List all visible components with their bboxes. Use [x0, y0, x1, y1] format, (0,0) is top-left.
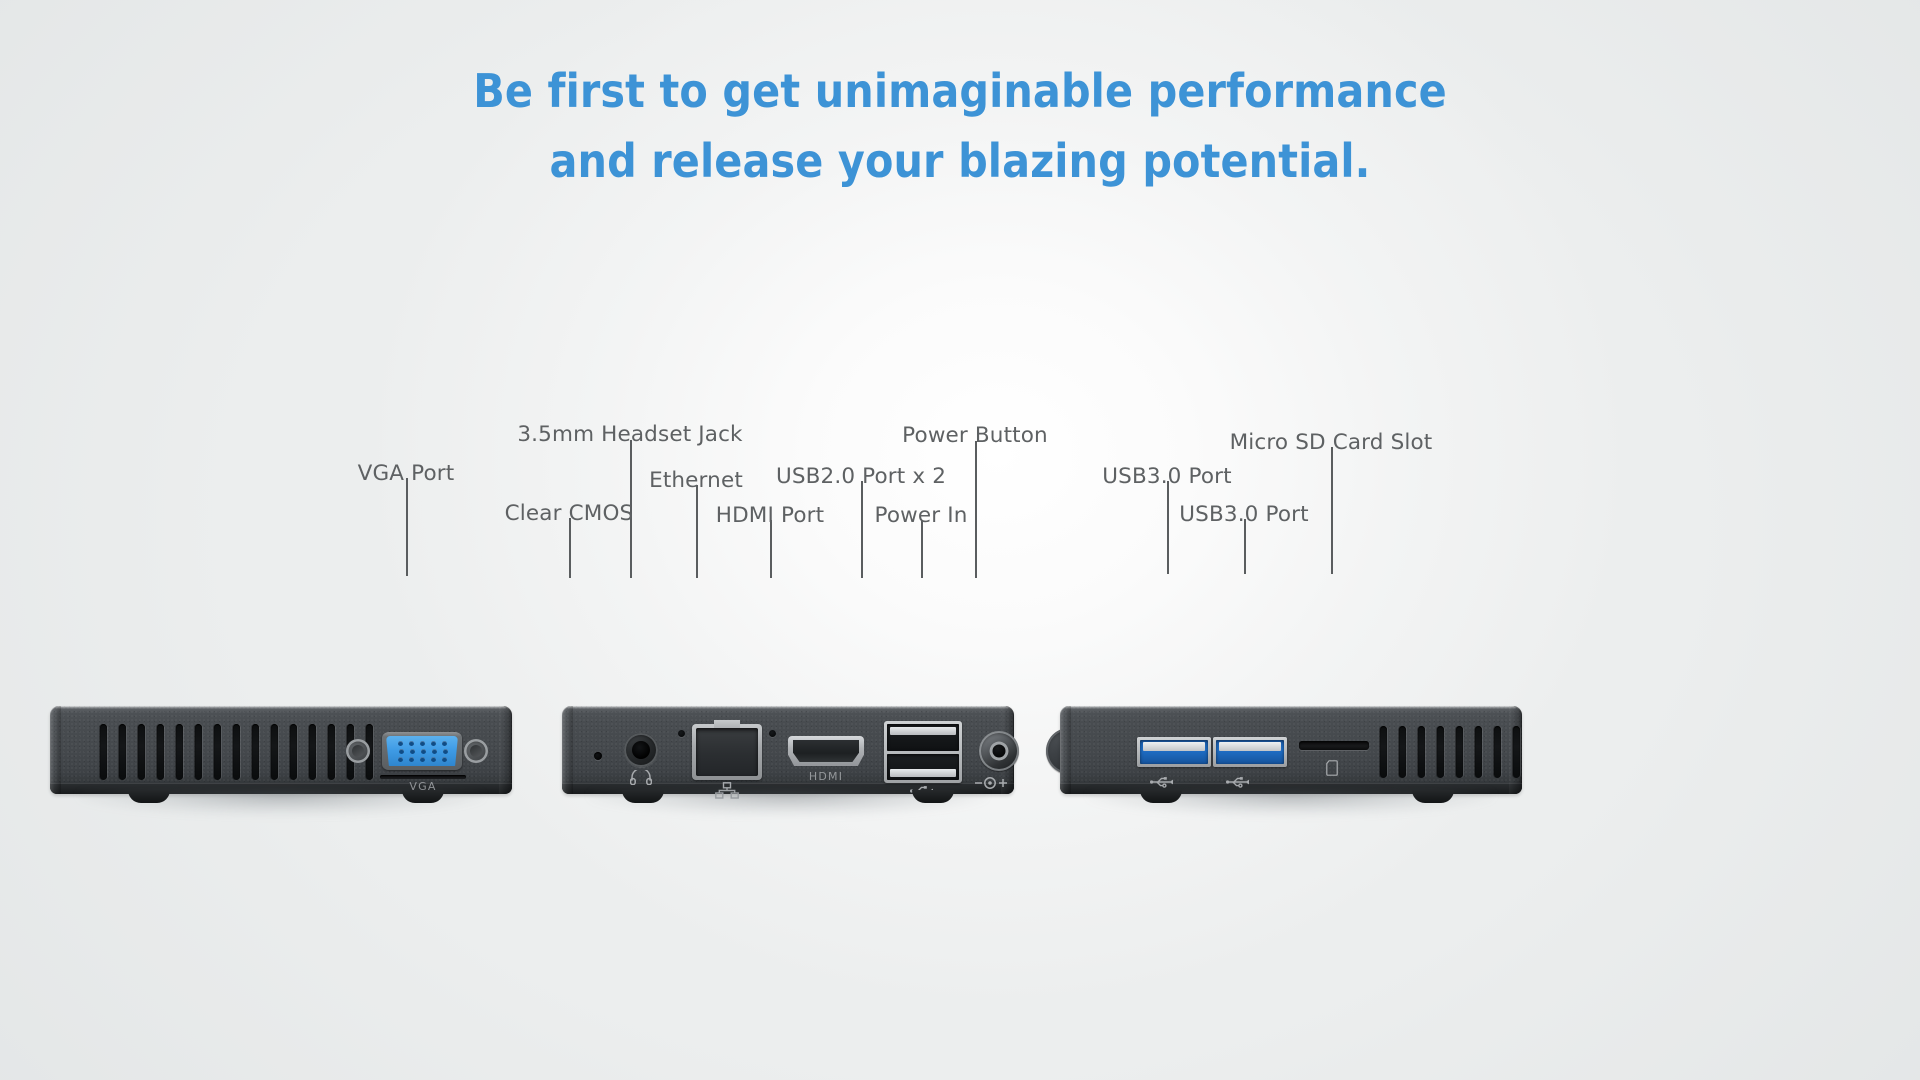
vent-slot — [100, 724, 107, 780]
usb2-port-lower[interactable] — [887, 754, 959, 781]
callout-leader-vga-port — [406, 478, 408, 576]
vent-slot — [1399, 726, 1406, 778]
vent-slot — [1380, 726, 1387, 778]
usb-tongue — [1143, 742, 1205, 751]
usb-tongue — [890, 727, 956, 735]
vent-slot — [290, 724, 297, 780]
callout-label-hdmi-port: HDMI Port — [716, 503, 824, 528]
rubber-foot — [912, 790, 954, 803]
vent-slot — [176, 724, 183, 780]
vga-pin-row — [393, 757, 451, 762]
device-rear-view: HDMI — [562, 706, 1014, 794]
vent-slot — [1494, 726, 1501, 778]
hdmi-port[interactable] — [788, 736, 864, 766]
vga-lower-slot — [380, 775, 466, 779]
usb-tongue — [890, 769, 956, 777]
callout-leader-usb3-port-2 — [1244, 519, 1246, 574]
vent-slot — [119, 724, 126, 780]
callout-leader-micro-sd-slot — [1331, 447, 1333, 574]
vga-pin-grid — [386, 736, 458, 766]
usb-tongue — [1219, 742, 1281, 751]
vent-slot — [1456, 726, 1463, 778]
ethernet-led-left — [678, 730, 685, 737]
vga-pin-row — [393, 749, 451, 754]
callout-label-clear-cmos: Clear CMOS — [505, 501, 634, 526]
callout-label-ethernet: Ethernet — [649, 468, 743, 493]
clear-cmos-pinhole[interactable] — [594, 752, 602, 760]
vent-slot — [195, 724, 202, 780]
rubber-foot — [402, 790, 444, 803]
callout-leader-clear-cmos — [569, 518, 571, 578]
usb3-port-2[interactable] — [1213, 737, 1287, 767]
usb-trident-icon — [1226, 776, 1250, 788]
vent-slot — [1475, 726, 1482, 778]
vga-port[interactable] — [382, 732, 462, 770]
device-left-view: VGA — [50, 706, 512, 794]
callout-label-headset-jack: 3.5mm Headset Jack — [517, 422, 742, 447]
vent-slot — [1513, 726, 1520, 778]
micro-sd-card-slot[interactable] — [1299, 741, 1369, 750]
power-in-jack[interactable] — [979, 731, 1019, 771]
page-headline: Be first to get unimaginable performance… — [0, 56, 1920, 196]
vent-slot — [138, 724, 145, 780]
rubber-foot — [622, 790, 664, 803]
vga-connector-cavity — [386, 736, 458, 766]
headphones-icon — [630, 770, 652, 785]
ethernet-port[interactable] — [692, 724, 762, 780]
sd-card-icon — [1326, 760, 1338, 776]
callout-leader-ethernet — [696, 485, 698, 578]
rubber-foot — [1140, 790, 1182, 803]
callout-label-power-button: Power Button — [902, 423, 1048, 448]
vent-slot — [328, 724, 335, 780]
dc-polarity-icon — [974, 776, 1024, 790]
ventilation-slots — [1380, 726, 1520, 778]
headline-line-1: Be first to get unimaginable performance — [473, 64, 1447, 118]
vent-slot — [233, 724, 240, 780]
ethernet-led-right — [769, 730, 776, 737]
callout-leader-usb2-ports — [861, 481, 863, 578]
vent-slot — [214, 724, 221, 780]
usb2-port-upper[interactable] — [887, 724, 959, 751]
usb3-cavity — [1140, 740, 1208, 764]
vent-slot — [1418, 726, 1425, 778]
callout-label-usb3-port-2: USB3.0 Port — [1179, 502, 1308, 527]
product-diagram: Be first to get unimaginable performance… — [0, 0, 1920, 1080]
callout-label-usb3-port-1: USB3.0 Port — [1102, 464, 1231, 489]
callout-leader-power-button — [975, 441, 977, 578]
headline-line-2: and release your blazing potential. — [0, 126, 1920, 196]
vga-screw-post-right — [464, 739, 488, 763]
callout-leader-hdmi-port — [770, 520, 772, 578]
hdmi-cavity — [793, 740, 859, 762]
usb3-cavity — [1216, 740, 1284, 764]
ventilation-slots — [100, 724, 373, 780]
vga-pin-row — [393, 741, 451, 746]
device-right-view — [1060, 706, 1522, 794]
usb-trident-icon — [1150, 776, 1174, 788]
hdmi-silkscreen-label: HDMI — [788, 770, 864, 783]
vent-slot — [1437, 726, 1444, 778]
callout-label-power-in: Power In — [874, 503, 967, 528]
headset-jack-port[interactable] — [624, 733, 658, 767]
usb3-port-1[interactable] — [1137, 737, 1211, 767]
vent-slot — [252, 724, 259, 780]
callout-label-usb2-ports: USB2.0 Port x 2 — [776, 464, 946, 489]
usb2-port-pair[interactable] — [884, 721, 962, 783]
callout-leader-power-in — [921, 520, 923, 578]
vga-screw-post-left — [346, 739, 370, 763]
callout-label-vga-port: VGA Port — [358, 461, 455, 486]
rubber-foot — [128, 790, 170, 803]
rj45-cavity — [696, 728, 758, 776]
vent-slot — [271, 724, 278, 780]
vent-slot — [309, 724, 316, 780]
rubber-foot — [1412, 790, 1454, 803]
callout-leader-usb3-port-1 — [1167, 481, 1169, 574]
callout-label-micro-sd-slot: Micro SD Card Slot — [1230, 430, 1433, 455]
vent-slot — [157, 724, 164, 780]
